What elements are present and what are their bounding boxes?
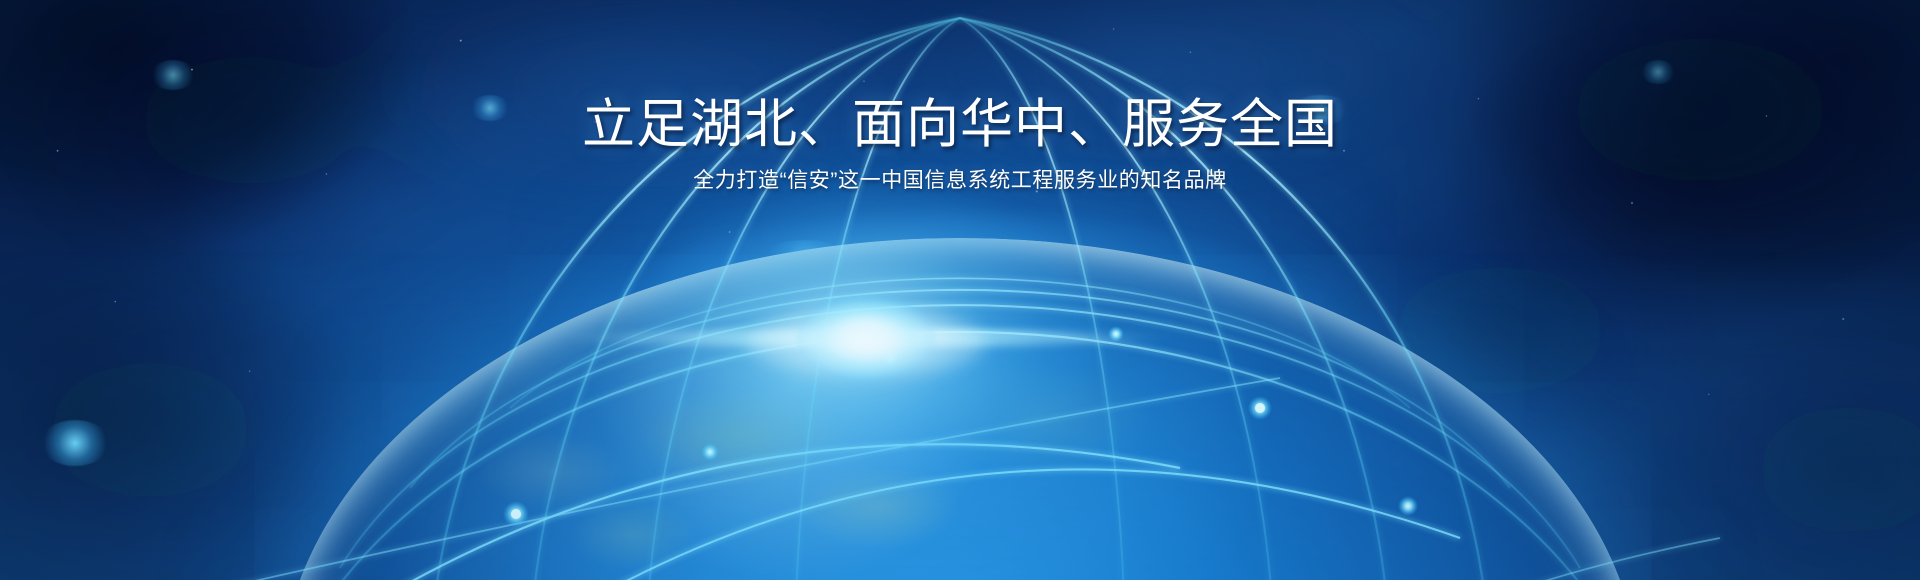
star-cluster [40,420,110,466]
flare-bloom [746,308,986,378]
banner-copy: 立足湖北、面向华中、服务全国 全力打造“信安”这一中国信息系统工程服务业的知名品… [0,96,1920,195]
banner-subheadline: 全力打造“信安”这一中国信息系统工程服务业的知名品牌 [0,167,1920,194]
banner-headline: 立足湖北、面向华中、服务全国 [0,96,1920,153]
light-flare [866,338,868,340]
hero-banner: 立足湖北、面向华中、服务全国 全力打造“信安”这一中国信息系统工程服务业的知名品… [0,0,1920,580]
star-cluster [150,60,196,90]
star-cluster [1640,60,1676,84]
